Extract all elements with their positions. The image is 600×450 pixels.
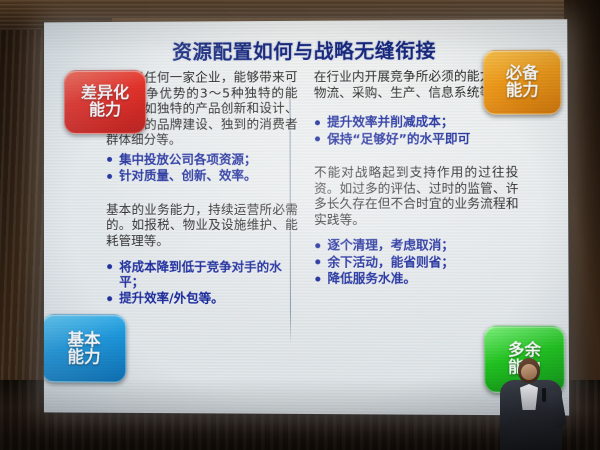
list-item: 提升效率/外包等。 <box>106 291 298 307</box>
badge-differentiating-capability: 差异化 能力 <box>64 70 146 134</box>
bullet-label: 集中投放公司各项资源； <box>119 152 256 167</box>
badge-line-2: 能力 <box>506 82 539 99</box>
bullet-dot-icon <box>315 136 320 141</box>
right-gap-2 <box>314 147 518 158</box>
projection-screen: 资源配置如何与战略无缝衔接 有别于任何一家企业，能够带来可持续竞争优势的3～5种… <box>44 19 569 415</box>
bullet-dot-icon <box>315 276 320 281</box>
list-item: 针对质量、创新、效率。 <box>106 168 298 184</box>
bullet-dot-icon <box>315 120 320 125</box>
list-item: 将成本降到低于竞争对手的水平； <box>106 259 298 290</box>
left-bullets-2: 将成本降到低于竞争对手的水平； 提升效率/外包等。 <box>106 259 298 307</box>
list-item: 提升效率并削减成本； <box>314 114 518 130</box>
bullet-label: 余下活动，能省则省； <box>327 254 454 269</box>
right-paragraph-2: 不能对战略起到支持作用的过往投资。如过多的评估、过时的监管、许多长久存在但不合时… <box>314 164 519 227</box>
presentation-slide: 资源配置如何与战略无缝衔接 有别于任何一家企业，能够带来可持续竞争优势的3～5种… <box>44 19 569 415</box>
bullet-label: 针对质量、创新、效率。 <box>119 168 256 183</box>
badge-line-2: 能力 <box>89 102 121 119</box>
presenter-silhouette <box>492 354 576 450</box>
right-bullets-2: 逐个清理，考虑取消； 余下活动，能省则省； 降低服务水准。 <box>314 238 519 287</box>
list-item: 降低服务水准。 <box>314 271 519 287</box>
bullet-label: 提升效率并削减成本； <box>327 114 453 130</box>
bullet-dot-icon <box>107 174 112 179</box>
microphone-icon <box>542 388 546 402</box>
bullet-dot-icon <box>107 264 112 269</box>
bullet-label: 保持“足够好”的水平即可 <box>327 131 470 146</box>
bullet-label: 降低服务水准。 <box>327 271 416 286</box>
badge-basic-capability: 基本 能力 <box>44 314 126 383</box>
list-item: 余下活动，能省则省； <box>314 254 519 270</box>
presenter-face <box>521 364 537 380</box>
bullet-dot-icon <box>107 157 112 162</box>
bullet-label: 提升效率/外包等。 <box>119 291 224 306</box>
badge-line-2: 能力 <box>68 348 101 366</box>
bullet-label: 将成本降到低于竞争对手的水平； <box>119 259 282 290</box>
photo-scene: 资源配置如何与战略无缝衔接 有别于任何一家企业，能够带来可持续竞争优势的3～5种… <box>0 0 600 450</box>
bullet-dot-icon <box>315 260 320 265</box>
bullet-dot-icon <box>107 296 112 301</box>
left-paragraph-2: 基本的业务能力，持续运营所必需的。如报税、物业及设施维护、能耗管理等。 <box>106 202 298 249</box>
left-bullets-1: 集中投放公司各项资源； 针对质量、创新、效率。 <box>106 152 298 184</box>
left-gap-2 <box>106 249 298 255</box>
right-bullets-1: 提升效率并削减成本； 保持“足够好”的水平即可 <box>314 114 519 147</box>
list-item: 保持“足够好”的水平即可 <box>314 130 518 146</box>
badge-line-1: 基本 <box>68 331 101 349</box>
presenter-shirt <box>520 384 538 410</box>
bullet-label: 逐个清理，考虑取消； <box>327 238 454 253</box>
badge-essential-capability: 必备 能力 <box>483 50 561 115</box>
right-gap-3 <box>314 227 519 233</box>
left-gap <box>106 185 298 195</box>
list-item: 集中投放公司各项资源； <box>106 152 298 168</box>
list-item: 逐个清理，考虑取消； <box>314 238 519 254</box>
bullet-dot-icon <box>315 243 320 248</box>
